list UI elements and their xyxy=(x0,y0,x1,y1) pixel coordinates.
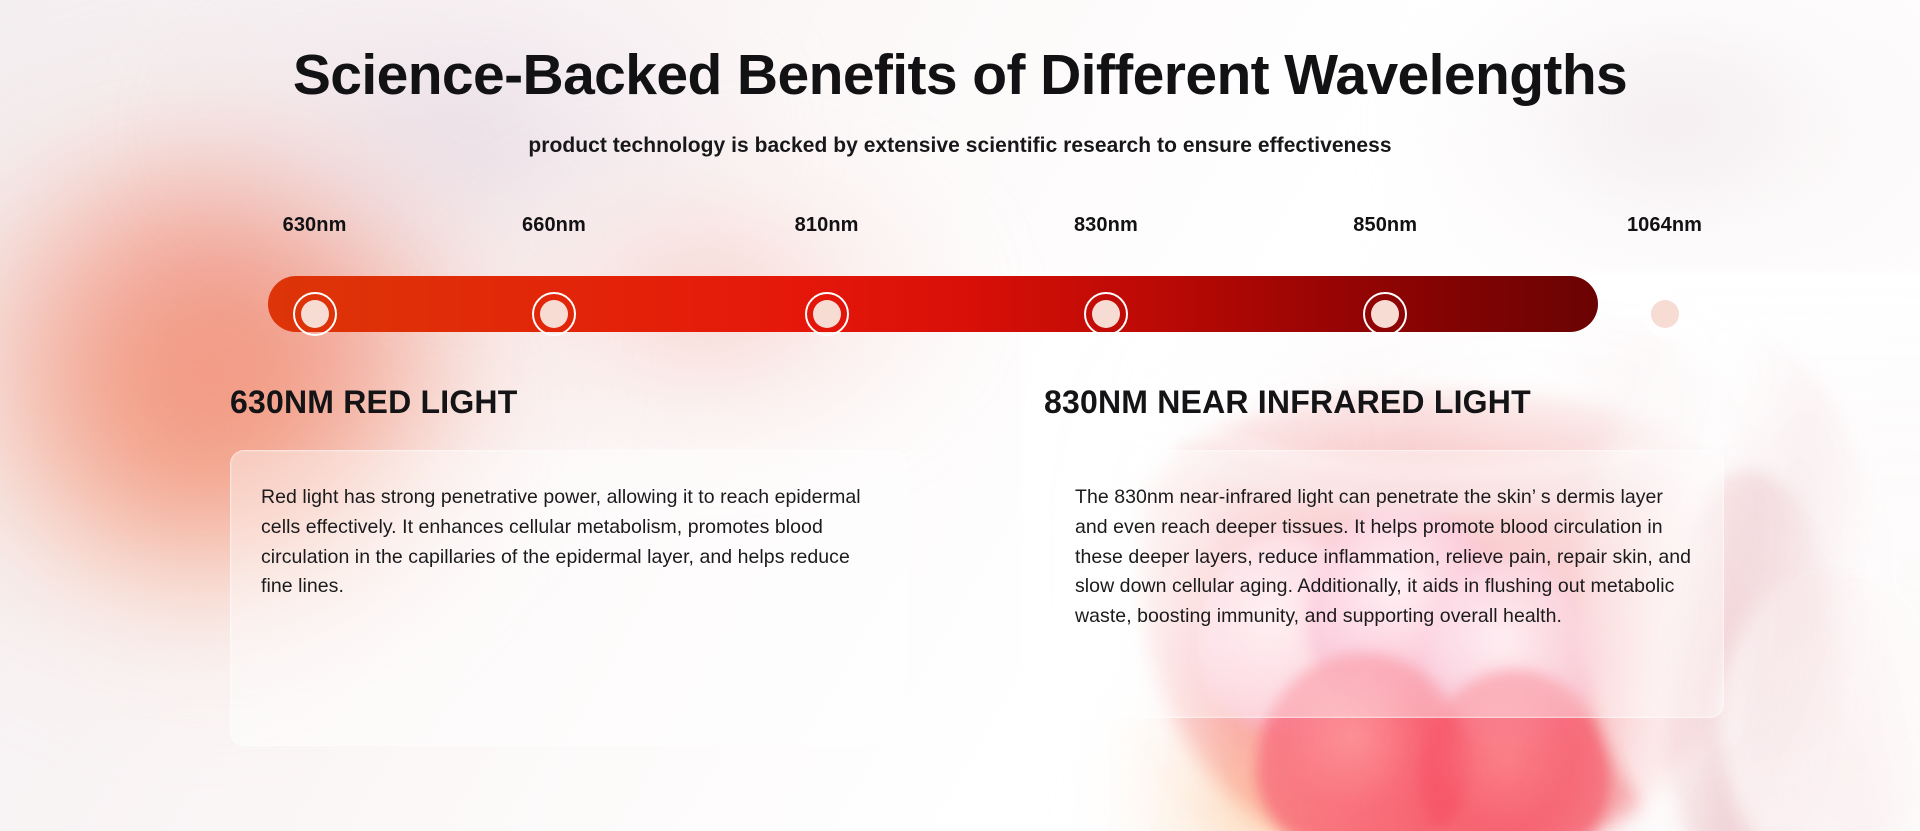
wavelength-node-label: 830nm xyxy=(1036,214,1176,237)
benefit-body-text: Red light has strong penetrative power, … xyxy=(261,483,875,602)
wavelength-node-dot-icon[interactable] xyxy=(1363,292,1407,336)
benefit-card: Red light has strong penetrative power, … xyxy=(230,450,906,746)
wavelength-node-850nm[interactable]: 850nm xyxy=(1315,214,1455,237)
wavelength-node-dot-icon[interactable] xyxy=(1084,292,1128,336)
benefit-heading: 630NM RED LIGHT xyxy=(230,384,906,421)
wavelength-node-630nm[interactable]: 630nm xyxy=(245,214,385,237)
page-title: Science-Backed Benefits of Different Wav… xyxy=(0,46,1920,106)
wavelength-node-label: 1064nm xyxy=(1595,214,1735,237)
content-layer: Science-Backed Benefits of Different Wav… xyxy=(0,0,1920,831)
wavelength-node-label: 850nm xyxy=(1315,214,1455,237)
benefit-column-830nm: 830NM NEAR INFRARED LIGHT The 830nm near… xyxy=(1044,384,1724,718)
benefit-body-text: The 830nm near-infrared light can penetr… xyxy=(1075,483,1693,632)
wavelength-node-1064nm[interactable]: 1064nm xyxy=(1595,214,1735,237)
page-subtitle: product technology is backed by extensiv… xyxy=(0,134,1920,158)
wavelength-node-660nm[interactable]: 660nm xyxy=(484,214,624,237)
benefit-heading: 830NM NEAR INFRARED LIGHT xyxy=(1044,384,1724,421)
wavelength-node-label: 660nm xyxy=(484,214,624,237)
wavelength-node-dot-icon[interactable] xyxy=(532,292,576,336)
wavelength-node-830nm[interactable]: 830nm xyxy=(1036,214,1176,237)
infographic-stage: Science-Backed Benefits of Different Wav… xyxy=(0,0,1920,831)
wavelength-node-dot-icon[interactable] xyxy=(1643,292,1687,336)
wavelength-scale: 630nm660nm810nm830nm850nm1064nm xyxy=(268,276,1598,332)
wavelength-node-dot-icon[interactable] xyxy=(293,292,337,336)
wavelength-node-810nm[interactable]: 810nm xyxy=(757,214,897,237)
benefit-column-630nm: 630NM RED LIGHT Red light has strong pen… xyxy=(230,384,906,746)
wavelength-node-dot-icon[interactable] xyxy=(805,292,849,336)
wavelength-node-label: 810nm xyxy=(757,214,897,237)
wavelength-node-label: 630nm xyxy=(245,214,385,237)
benefit-card: The 830nm near-infrared light can penetr… xyxy=(1044,450,1724,718)
